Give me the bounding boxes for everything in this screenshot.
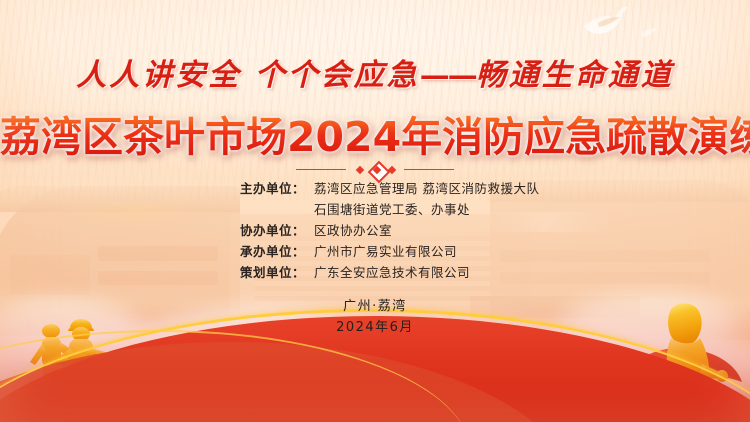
- poster-canvas: 人人讲安全 个个会应急——畅通生命通道 荔湾区茶叶市场2024年消防应急疏散演练…: [0, 0, 750, 422]
- divider-line-left: [296, 169, 346, 170]
- organizer-row: 策划单位： 广东全安应急技术有限公司: [0, 262, 750, 283]
- organizer-value: 广东全安应急技术有限公司: [305, 262, 470, 283]
- divider-line-right: [404, 169, 454, 170]
- organizer-row: 协办单位： 区政协办公室: [0, 220, 750, 241]
- organizer-value: 石围塘街道党工委、办事处: [305, 199, 470, 220]
- organizer-label: 主办单位：: [225, 178, 305, 199]
- place-text: 广州·荔湾: [0, 296, 750, 317]
- poster-slogan: 人人讲安全 个个会应急——畅通生命通道: [0, 50, 750, 94]
- organizer-value: 荔湾区应急管理局 荔湾区消防救援大队: [305, 178, 539, 199]
- organizer-label: 策划单位：: [225, 262, 305, 283]
- dove-icon: [578, 6, 632, 40]
- diamond-left-icon: [356, 166, 364, 174]
- page-title: 荔湾区茶叶市场2024年消防应急疏散演练: [0, 103, 750, 163]
- dove-small-icon: [640, 26, 658, 38]
- organizer-value: 广州市广易实业有限公司: [305, 241, 457, 262]
- organizer-label: [225, 199, 305, 220]
- slogan-part-2: 畅通生命通道: [476, 58, 674, 93]
- organizer-label: 协办单位：: [225, 220, 305, 241]
- organizer-label: 承办单位：: [225, 241, 305, 262]
- organizer-row: 主办单位： 荔湾区应急管理局 荔湾区消防救援大队: [0, 178, 750, 199]
- divider-ornament: [0, 162, 750, 176]
- organizer-block: 主办单位： 荔湾区应急管理局 荔湾区消防救援大队 石围塘街道党工委、办事处 协办…: [0, 178, 750, 283]
- slogan-part-1: 人人讲安全 个个会应急: [76, 58, 419, 93]
- organizer-value: 区政协办公室: [305, 220, 392, 241]
- organizer-row: 石围塘街道党工委、办事处: [0, 199, 750, 220]
- organizer-row: 承办单位： 广州市广易实业有限公司: [0, 241, 750, 262]
- place-date-block: 广州·荔湾 2024年6月: [0, 296, 750, 338]
- date-text: 2024年6月: [0, 317, 750, 338]
- slogan-dash: ——: [420, 58, 476, 93]
